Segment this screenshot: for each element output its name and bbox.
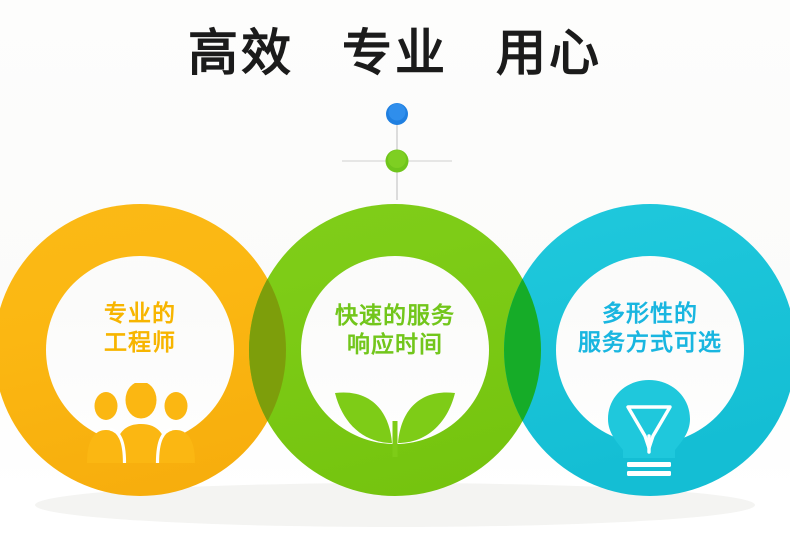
bulb-icon bbox=[601, 378, 697, 482]
page-title: 高效专业用心 bbox=[0, 28, 790, 78]
headline-word-1: 高效 bbox=[188, 28, 294, 78]
circle-label-engineers-line-1: 专业的 bbox=[36, 300, 244, 329]
poster-canvas: 高效专业用心 bbox=[0, 0, 790, 557]
circle-label-service-modes-line-2: 服务方式可选 bbox=[532, 329, 768, 358]
circle-label-service-modes-line-1: 多形性的 bbox=[532, 300, 768, 329]
circle-label-response-line-1: 快速的服务 bbox=[286, 302, 504, 331]
team-icon bbox=[86, 383, 196, 463]
sprout-icon bbox=[329, 381, 461, 457]
headline-word-3: 用心 bbox=[496, 28, 602, 78]
headline-word-2: 专业 bbox=[342, 28, 448, 78]
circle-label-service-modes: 多形性的 服务方式可选 bbox=[532, 300, 768, 359]
circle-label-engineers: 专业的 工程师 bbox=[36, 300, 244, 359]
circle-label-engineers-line-2: 工程师 bbox=[36, 329, 244, 358]
circle-label-response-line-2: 响应时间 bbox=[286, 331, 504, 360]
circle-label-response: 快速的服务 响应时间 bbox=[286, 302, 504, 361]
